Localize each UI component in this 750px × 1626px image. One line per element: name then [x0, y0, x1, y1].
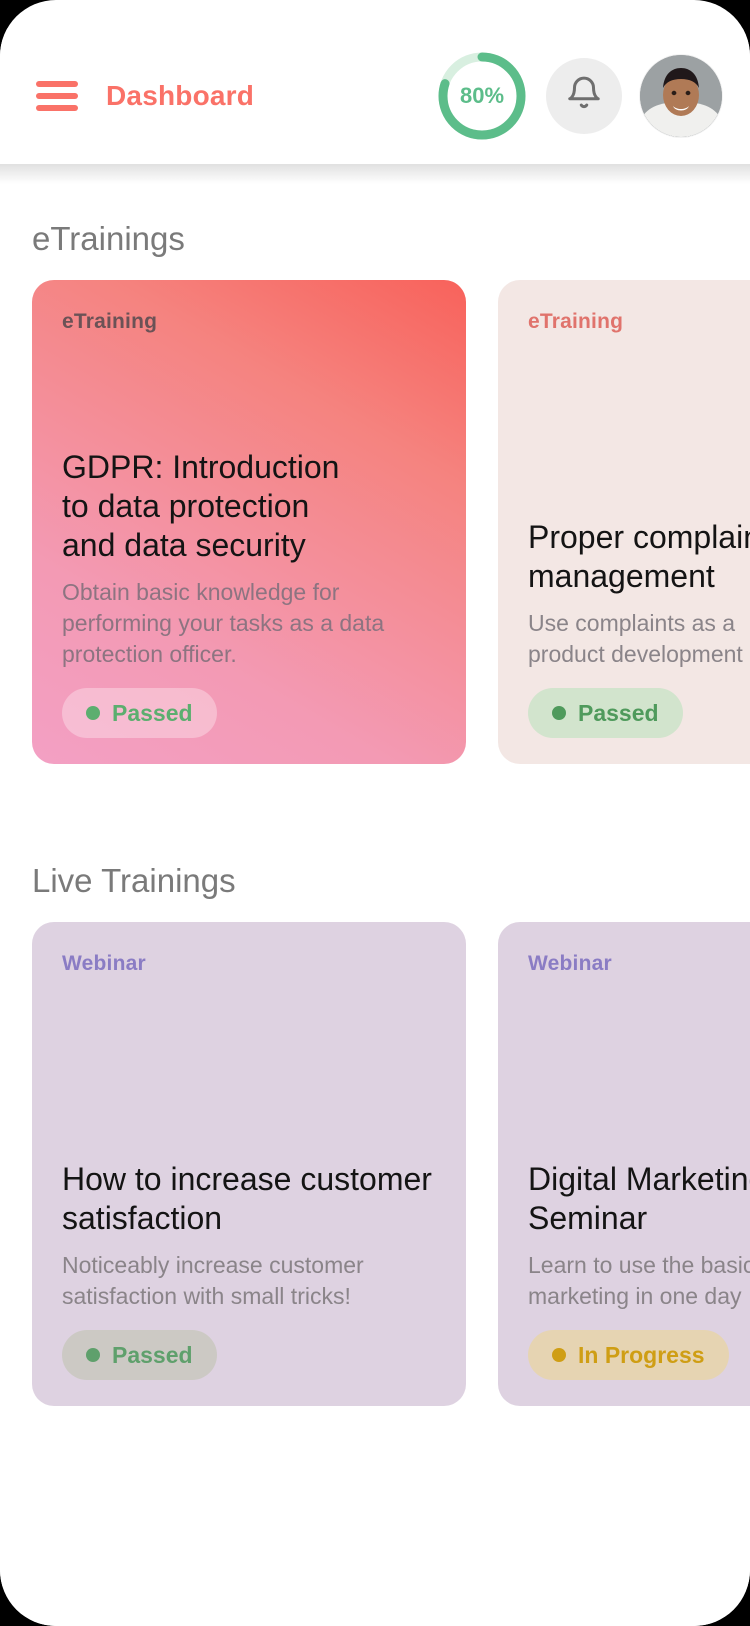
status-badge: In Progress [528, 1330, 729, 1380]
dashboard-content: eTrainings eTraining GDPR: Introduction … [0, 164, 750, 1626]
progress-percent-label: 80% [436, 50, 528, 142]
bell-icon [565, 74, 603, 119]
card-description: Learn to use the basics of marketing in … [528, 1250, 750, 1312]
card-title: Digital Marketing Seminar [528, 1160, 750, 1238]
section-title-etrainings: eTrainings [32, 220, 750, 258]
hamburger-bar [36, 93, 78, 99]
training-card[interactable]: Webinar Digital Marketing Seminar Learn … [498, 922, 750, 1406]
section-title-live-trainings: Live Trainings [32, 862, 750, 900]
etrainings-card-row[interactable]: eTraining GDPR: Introduction to data pro… [0, 280, 750, 764]
progress-ring[interactable]: 80% [436, 50, 528, 142]
status-dot-icon [86, 706, 100, 720]
training-card[interactable]: Webinar How to increase customer satisfa… [32, 922, 466, 1406]
card-kicker: eTraining [528, 310, 750, 334]
training-card[interactable]: eTraining Proper complaint management Us… [498, 280, 750, 764]
card-body: GDPR: Introduction to data protection an… [62, 448, 436, 738]
card-kicker: Webinar [528, 952, 750, 976]
status-dot-icon [552, 706, 566, 720]
live-trainings-card-row[interactable]: Webinar How to increase customer satisfa… [0, 922, 750, 1406]
app-header: Dashboard 80% [0, 28, 750, 164]
card-body: How to increase customer satisfaction No… [62, 1160, 436, 1380]
avatar[interactable] [640, 55, 722, 137]
notifications-button[interactable] [546, 58, 622, 134]
card-description: Noticeably increase customer satisfactio… [62, 1250, 436, 1312]
hamburger-menu-icon[interactable] [36, 81, 78, 111]
status-badge: Passed [528, 688, 683, 738]
card-kicker: Webinar [62, 952, 436, 976]
status-badge-label: Passed [112, 1342, 193, 1369]
card-description: Obtain basic knowledge for performing yo… [62, 577, 436, 670]
status-badge: Passed [62, 688, 217, 738]
page-title: Dashboard [106, 80, 254, 112]
status-badge-label: Passed [112, 700, 193, 727]
card-title: How to increase customer satisfaction [62, 1160, 436, 1238]
card-body: Digital Marketing Seminar Learn to use t… [528, 1160, 750, 1380]
status-badge-label: In Progress [578, 1342, 705, 1369]
status-badge: Passed [62, 1330, 217, 1380]
card-title: GDPR: Introduction to data protection an… [62, 448, 436, 565]
card-description: Use complaints as a product development [528, 608, 750, 670]
hamburger-bar [36, 105, 78, 111]
card-title: Proper complaint management [528, 518, 750, 596]
card-body: Proper complaint management Use complain… [528, 518, 750, 738]
training-card[interactable]: eTraining GDPR: Introduction to data pro… [32, 280, 466, 764]
hamburger-bar [36, 81, 78, 87]
header-actions: 80% [436, 50, 722, 142]
card-kicker: eTraining [62, 310, 436, 334]
status-dot-icon [86, 1348, 100, 1362]
status-badge-label: Passed [578, 700, 659, 727]
status-dot-icon [552, 1348, 566, 1362]
phone-screen: Dashboard 80% [0, 0, 750, 1626]
